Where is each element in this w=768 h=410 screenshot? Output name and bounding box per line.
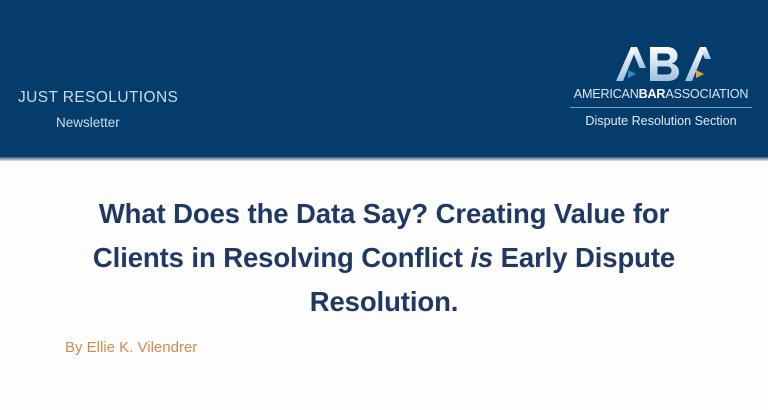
aba-wordmark-association: ASSOCIATION <box>665 87 748 101</box>
masthead-title: JUST RESOLUTIONS <box>18 88 178 107</box>
newsletter-article-page: JUST RESOLUTIONS Newsletter <box>0 0 768 410</box>
article-byline: By Ellie K. Vilendrer <box>0 324 768 358</box>
aba-wordmark-bar: BAR <box>639 87 666 101</box>
aba-logo-block: AMERICANBARASSOCIATION Dispute Resolutio… <box>562 44 760 129</box>
aba-divider-rule <box>570 107 752 108</box>
article-title-emphasis: is <box>470 242 493 273</box>
aba-wordmark: AMERICANBARASSOCIATION <box>562 87 760 102</box>
article-body: What Does the Data Say? Creating Value f… <box>0 157 768 410</box>
aba-wordmark-american: AMERICAN <box>574 87 639 101</box>
article-title: What Does the Data Say? Creating Value f… <box>0 157 768 324</box>
aba-logo-icon <box>611 44 711 84</box>
aba-section-name: Dispute Resolution Section <box>562 113 760 129</box>
header-banner: JUST RESOLUTIONS Newsletter <box>0 0 768 157</box>
masthead: JUST RESOLUTIONS Newsletter <box>18 88 178 132</box>
masthead-subtitle: Newsletter <box>56 114 178 132</box>
